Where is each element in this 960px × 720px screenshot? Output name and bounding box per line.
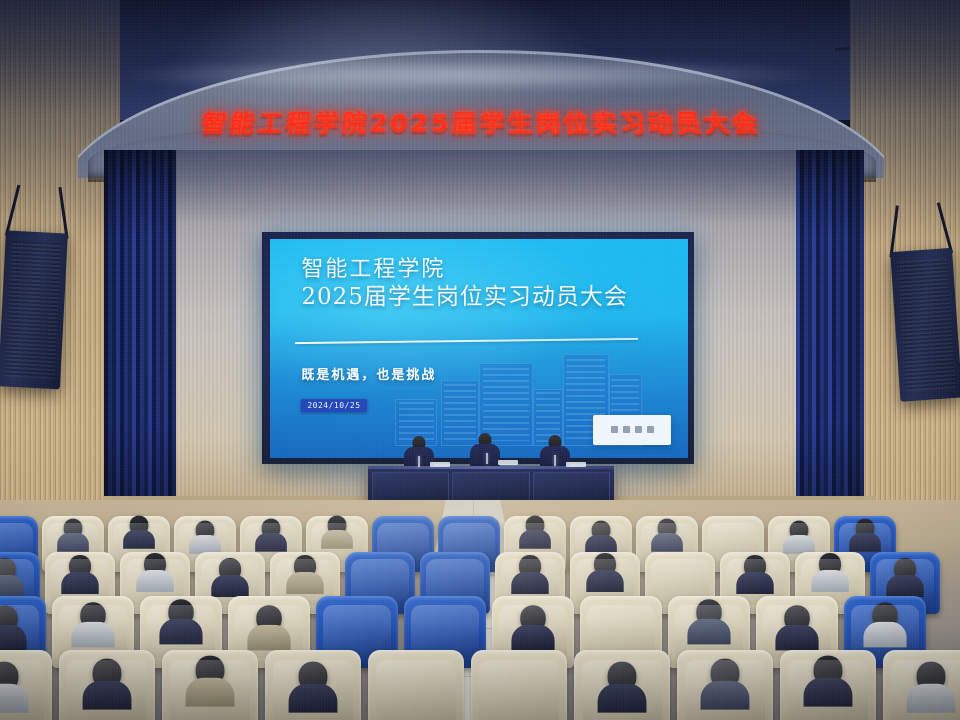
audience-member	[744, 555, 766, 577]
microphone-icon	[554, 455, 556, 466]
audience-member	[256, 605, 281, 630]
audience-member-head	[872, 602, 897, 627]
document-on-table	[566, 462, 586, 467]
audience-member	[592, 521, 611, 540]
audience-member-head	[526, 516, 545, 535]
audience-member-head	[196, 521, 215, 540]
audience-member-head	[294, 555, 316, 577]
audience-member-head	[594, 553, 616, 575]
auditorium-seat[interactable]	[574, 650, 670, 720]
audience-hall	[0, 500, 960, 720]
audience-member-shoulders	[289, 684, 338, 713]
auditorium-seat[interactable]	[780, 650, 876, 720]
audience-member	[696, 599, 721, 624]
audience-member-shoulders	[123, 530, 155, 549]
audience-member	[328, 516, 347, 535]
speaker-right	[890, 248, 952, 252]
audience-member-head	[0, 558, 16, 580]
audience-member	[0, 662, 18, 691]
audience-member-head	[64, 518, 83, 537]
audience-member-shoulders	[586, 570, 623, 592]
audience-member	[0, 558, 16, 580]
audience-member	[526, 516, 545, 535]
audience-member	[130, 516, 149, 535]
audience-member-head	[93, 659, 122, 688]
auditorium-seat[interactable]	[368, 650, 464, 720]
auditorium-scene: 智能工程学院2025届学生岗位实习动员大会 智能工程学院 2025届学生岗位实习…	[0, 0, 960, 720]
audience-member-head	[592, 521, 611, 540]
audience-member-shoulders	[186, 678, 235, 707]
auditorium-seat[interactable]	[162, 650, 258, 720]
audience-member-head	[917, 662, 946, 691]
audience-member-shoulders	[71, 622, 114, 647]
audience-member-head	[520, 605, 545, 630]
audience-member-shoulders	[598, 684, 647, 713]
logo-mark-icon	[647, 426, 654, 433]
audience-member-head	[196, 655, 225, 684]
microphone-icon	[418, 456, 420, 467]
audience-member-shoulders	[136, 570, 173, 592]
audience-member-shoulders	[585, 535, 617, 554]
audience-member-head	[0, 662, 18, 691]
speaker-mount-bracket-icon	[7, 184, 69, 235]
audience-member-head	[696, 599, 721, 624]
audience-member	[519, 555, 541, 577]
audience-member	[64, 518, 83, 537]
audience-member-head	[262, 518, 281, 537]
logo-mark-icon	[611, 426, 618, 433]
audience-member	[219, 558, 241, 580]
speaker-left	[6, 230, 68, 233]
audience-member-head	[658, 518, 677, 537]
logo-mark-icon	[623, 426, 630, 433]
audience-member	[196, 521, 215, 540]
slide-title-line-1: 智能工程学院	[301, 257, 628, 284]
audience-member-head	[144, 553, 166, 575]
audience-member	[520, 605, 545, 630]
auditorium-seat[interactable]	[883, 650, 960, 720]
audience-member	[856, 518, 875, 537]
audience-member	[711, 659, 740, 688]
audience-member	[0, 605, 18, 630]
audience-member-shoulders	[211, 575, 248, 597]
audience-member	[784, 605, 809, 630]
audience-member-head	[711, 659, 740, 688]
slide-logo-watermark	[593, 415, 671, 445]
audience-member-head	[0, 605, 18, 630]
audience-member-shoulders	[0, 575, 24, 597]
audience-member-shoulders	[849, 533, 881, 552]
audience-member-shoulders	[863, 622, 906, 647]
stage-curtain-left	[104, 150, 182, 540]
audience-member-shoulders	[804, 678, 853, 707]
audience-member-shoulders	[159, 619, 202, 644]
document-on-table	[498, 460, 518, 465]
audience-member-shoulders	[886, 575, 923, 597]
audience-member	[608, 662, 637, 691]
slide-subtitle: 既是机遇，也是挑战	[301, 364, 436, 383]
audience-member	[658, 518, 677, 537]
document-on-table	[430, 462, 450, 467]
speaker-cabinet	[0, 230, 68, 389]
audience-member-shoulders	[286, 572, 323, 594]
audience-member-shoulders	[651, 533, 683, 552]
audience-member-shoulders	[61, 572, 98, 594]
audience-member-head	[608, 662, 637, 691]
audience-member-shoulders	[255, 533, 287, 552]
slide-title-line-2: 2025届学生岗位实习动员大会	[301, 283, 628, 311]
audience-member	[894, 558, 916, 580]
audience-member-shoulders	[736, 572, 773, 594]
auditorium-seat[interactable]	[677, 650, 773, 720]
audience-member-head	[744, 555, 766, 577]
audience-member-shoulders	[687, 619, 730, 644]
audience-member-shoulders	[0, 684, 28, 713]
audience-member	[196, 655, 225, 684]
audience-member-head	[80, 602, 105, 627]
audience-member-shoulders	[189, 535, 221, 554]
presentation-screen: 智能工程学院 2025届学生岗位实习动员大会 既是机遇，也是挑战 2024/10…	[270, 239, 688, 458]
audience-member-shoulders	[511, 572, 548, 594]
audience-member-head	[790, 521, 809, 540]
audience-member-shoulders	[57, 533, 89, 552]
audience-member-shoulders	[783, 535, 815, 554]
audience-member	[594, 553, 616, 575]
speaker-mount-bracket-icon	[888, 202, 951, 254]
audience-member-head	[299, 662, 328, 691]
audience-member-head	[69, 555, 91, 577]
auditorium-seat[interactable]	[265, 650, 361, 720]
audience-member-head	[784, 605, 809, 630]
audience-member-shoulders	[811, 570, 848, 592]
audience-member	[93, 659, 122, 688]
audience-member-shoulders	[83, 681, 132, 710]
speaker-cabinet	[890, 248, 960, 402]
panelist-torso	[470, 444, 500, 468]
seat-row	[0, 650, 916, 720]
audience-member-head	[894, 558, 916, 580]
logo-mark-icon	[635, 426, 642, 433]
audience-member	[69, 555, 91, 577]
audience-member-head	[519, 555, 541, 577]
audience-member-shoulders	[519, 530, 551, 549]
auditorium-seat[interactable]	[471, 650, 567, 720]
audience-member	[299, 662, 328, 691]
audience-member	[168, 599, 193, 624]
audience-member-shoulders	[247, 624, 290, 649]
audience-member-shoulders	[701, 681, 750, 710]
audience-member-head	[168, 599, 193, 624]
led-screen-bezel: 智能工程学院 2025届学生岗位实习动员大会 既是机遇，也是挑战 2024/10…	[262, 232, 694, 464]
audience-member	[819, 553, 841, 575]
audience-member-head	[819, 553, 841, 575]
audience-member-shoulders	[511, 624, 554, 649]
auditorium-seat[interactable]	[59, 650, 155, 720]
audience-member-head	[856, 518, 875, 537]
audience-member	[294, 555, 316, 577]
audience-member-head	[219, 558, 241, 580]
auditorium-seat[interactable]	[0, 650, 52, 720]
audience-member	[814, 655, 843, 684]
audience-member-head	[814, 655, 843, 684]
audience-member	[790, 521, 809, 540]
audience-member-shoulders	[775, 624, 818, 649]
audience-member	[80, 602, 105, 627]
audience-member-head	[328, 516, 347, 535]
audience-member	[144, 553, 166, 575]
audience-member-head	[130, 516, 149, 535]
audience-member-head	[256, 605, 281, 630]
audience-member-shoulders	[321, 530, 353, 549]
panelist	[470, 433, 500, 467]
audience-member	[262, 518, 281, 537]
slide-title: 智能工程学院 2025届学生岗位实习动员大会	[301, 257, 628, 312]
slide-date-badge: 2024/10/25	[301, 399, 366, 412]
audience-member-shoulders	[0, 624, 27, 649]
microphone-icon	[486, 453, 488, 464]
audience-member	[917, 662, 946, 691]
audience-member	[872, 602, 897, 627]
audience-member-shoulders	[907, 684, 956, 713]
